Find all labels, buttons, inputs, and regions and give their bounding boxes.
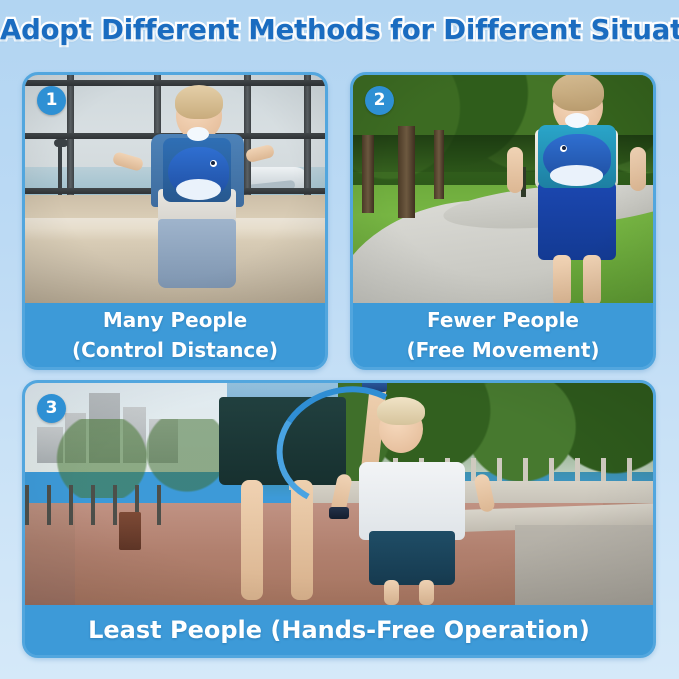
panel-1-caption-line-2: (Control Distance): [25, 335, 325, 365]
panel-3-badge: 3: [37, 394, 66, 423]
child-hair: [175, 85, 223, 119]
panel-1-badge: 1: [37, 86, 66, 115]
tree-trunk: [398, 126, 415, 218]
adult-leg-left: [241, 480, 263, 600]
child-arm-right: [630, 147, 646, 191]
child-blue-shorts: [538, 183, 616, 260]
toddler-figure: [515, 80, 641, 305]
panel-1-photo: 1: [25, 75, 325, 305]
panel-2-badge: 2: [365, 86, 394, 115]
child-denim-shorts: [158, 219, 236, 287]
method-panel-2: 2 Fewer People (Free Movement): [350, 72, 656, 370]
panel-1-caption-line-1: Many People: [25, 305, 325, 335]
panel-2-caption-line-2: (Free Movement): [353, 335, 653, 365]
child-leg-left: [384, 580, 399, 605]
trash-bin: [119, 512, 141, 550]
whale-eye: [210, 160, 217, 167]
whale-belly: [176, 179, 221, 200]
toddler-figure: [133, 91, 259, 305]
panel-3-photo: 3: [25, 383, 653, 605]
promenade-scene: [25, 383, 653, 605]
riverside-railing: [25, 485, 163, 525]
panel-3-caption-line-1: Least People (Hands-Free Operation): [25, 605, 653, 655]
child-shorts: [369, 531, 454, 584]
panel-2-caption-line-1: Fewer People: [353, 305, 653, 335]
whale-belly: [550, 165, 603, 185]
method-panel-3: 3 Least People (Hands-Free Operation): [22, 380, 656, 658]
panel-2-photo: 2: [353, 75, 653, 305]
page-title: Adopt Different Methods for Different Si…: [0, 14, 679, 46]
infographic-page: Adopt Different Methods for Different Si…: [0, 0, 679, 679]
child-hair: [552, 75, 604, 111]
panel-2-caption: Fewer People (Free Movement): [353, 303, 653, 367]
tree-trunk: [434, 130, 444, 199]
child-wrist-band: [329, 507, 349, 519]
panel-3-caption: Least People (Hands-Free Operation): [25, 605, 653, 655]
method-panel-1: 1 Many People (Control Distance): [22, 72, 328, 370]
window-beam: [25, 80, 325, 86]
child-leg-right: [419, 580, 434, 605]
tree-trunk: [362, 135, 374, 213]
panel-1-caption: Many People (Control Distance): [25, 303, 325, 367]
child-arm-left: [507, 147, 523, 193]
child-leg-left: [553, 255, 571, 305]
child-leg-right: [583, 255, 601, 305]
park-scene: [353, 75, 653, 305]
airport-scene: [25, 75, 325, 305]
page-title-container: Adopt Different Methods for Different Si…: [0, 14, 679, 46]
side-road: [515, 525, 653, 605]
